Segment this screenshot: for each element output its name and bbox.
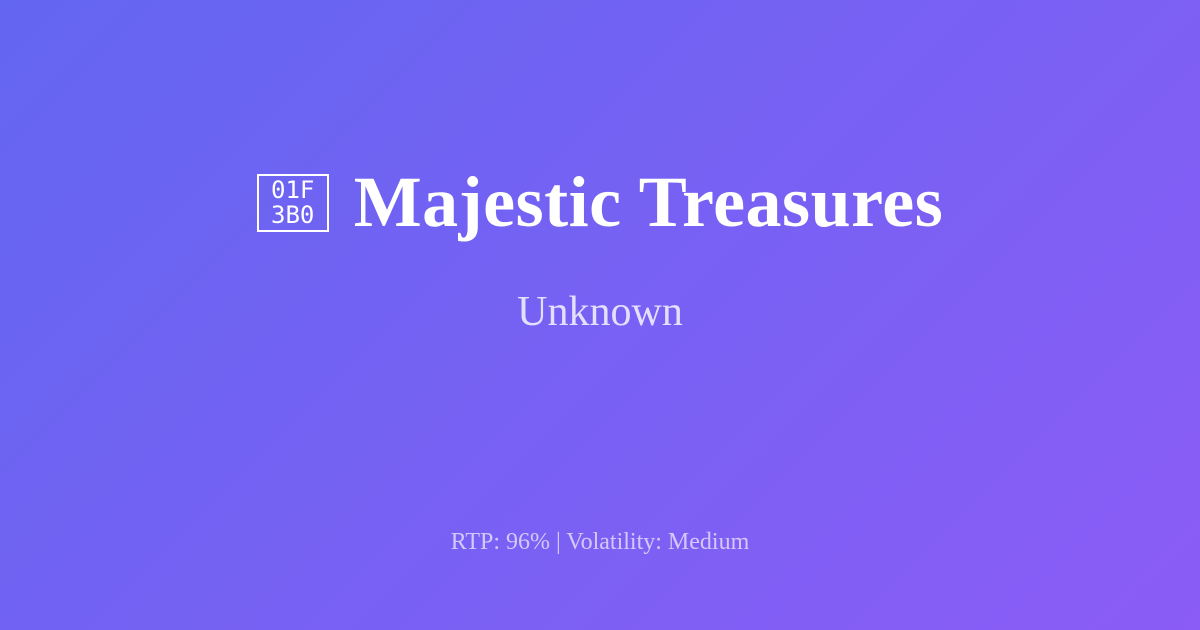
- card-center-stack: 01F 3B0 Majestic Treasures Unknown: [0, 0, 1200, 500]
- slot-machine-emoji-codepoint-top: 01F: [271, 178, 314, 203]
- provider-label: Unknown: [517, 289, 683, 335]
- game-og-card: 01F 3B0 Majestic Treasures Unknown RTP: …: [0, 0, 1200, 630]
- game-meta-line: RTP: 96% | Volatility: Medium: [0, 528, 1200, 557]
- slot-machine-emoji-codepoint-bottom: 3B0: [271, 203, 314, 228]
- page-title: Majestic Treasures: [354, 165, 944, 241]
- slot-machine-emoji-icon: 01F 3B0: [257, 174, 329, 232]
- title-row: 01F 3B0 Majestic Treasures: [257, 165, 944, 241]
